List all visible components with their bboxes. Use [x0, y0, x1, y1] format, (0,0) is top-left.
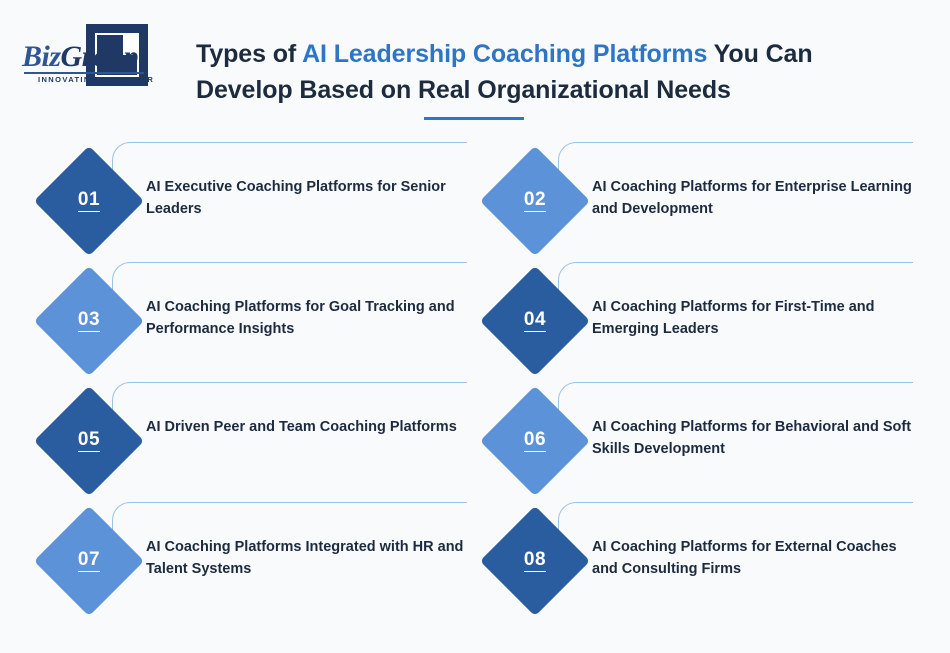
title-part-1: Types of	[196, 40, 302, 68]
item-number-text: 05	[78, 430, 100, 452]
item-number-text: 07	[78, 550, 100, 572]
item-label: AI Coaching Platforms for First-Time and…	[592, 296, 917, 340]
item-number-text: 02	[524, 190, 546, 212]
list-item: 04AI Coaching Platforms for First-Time a…	[496, 268, 916, 388]
item-label: AI Driven Peer and Team Coaching Platfor…	[146, 416, 471, 438]
item-number: 06	[496, 402, 574, 480]
item-label: AI Executive Coaching Platforms for Seni…	[146, 176, 471, 220]
logo-tagline: INNOVATING TOGETHER	[38, 75, 154, 84]
list-item: 05AI Driven Peer and Team Coaching Platf…	[50, 388, 470, 508]
logo-word-biz: Biz	[22, 40, 61, 73]
logo-wordmark: BizGroup	[22, 40, 138, 74]
item-number-text: 06	[524, 430, 546, 452]
title-underline	[424, 117, 524, 120]
page-title: Types of AI Leadership Coaching Platform…	[196, 37, 896, 108]
list-item: 03AI Coaching Platforms for Goal Trackin…	[50, 268, 470, 388]
list-item: 08AI Coaching Platforms for External Coa…	[496, 508, 916, 628]
item-number: 05	[50, 402, 128, 480]
item-label: AI Coaching Platforms for Behavioral and…	[592, 416, 917, 460]
item-label: AI Coaching Platforms Integrated with HR…	[146, 536, 471, 580]
list-item: 02AI Coaching Platforms for Enterprise L…	[496, 148, 916, 268]
list-item: 07AI Coaching Platforms Integrated with …	[50, 508, 470, 628]
item-label: AI Coaching Platforms for Enterprise Lea…	[592, 176, 917, 220]
item-number: 03	[50, 282, 128, 360]
item-number: 02	[496, 162, 574, 240]
infographic-page: BizGroup INNOVATING TOGETHER Types of AI…	[0, 0, 950, 653]
logo-divider	[24, 72, 144, 74]
logo-word-group: Group	[61, 40, 139, 73]
item-number: 01	[50, 162, 128, 240]
list-item: 06AI Coaching Platforms for Behavioral a…	[496, 388, 916, 508]
item-label: AI Coaching Platforms for Goal Tracking …	[146, 296, 471, 340]
item-number: 08	[496, 522, 574, 600]
item-number-text: 03	[78, 310, 100, 332]
item-number: 04	[496, 282, 574, 360]
list-item: 01AI Executive Coaching Platforms for Se…	[50, 148, 470, 268]
item-label: AI Coaching Platforms for External Coach…	[592, 536, 917, 580]
item-number: 07	[50, 522, 128, 600]
title-highlight: AI Leadership Coaching Platforms	[302, 40, 707, 68]
item-number-text: 01	[78, 190, 100, 212]
item-number-text: 04	[524, 310, 546, 332]
brand-logo: BizGroup INNOVATING TOGETHER	[22, 22, 167, 88]
item-number-text: 08	[524, 550, 546, 572]
